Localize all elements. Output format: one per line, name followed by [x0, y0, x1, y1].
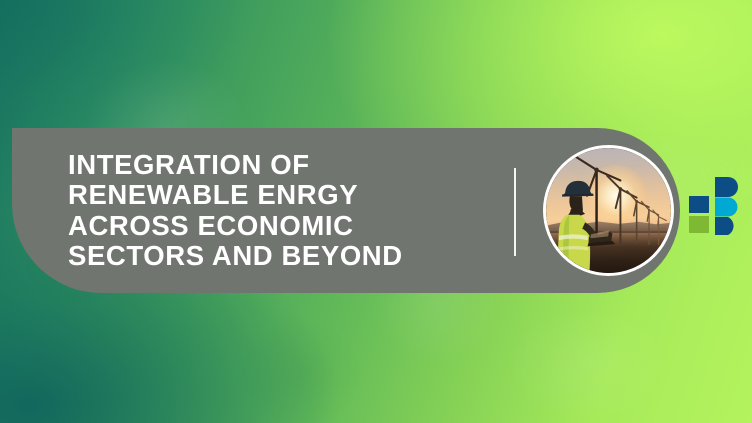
logo-block-lime — [689, 216, 709, 233]
banner-canvas: INTEGRATION OF RENEWABLE ENRGY ACROSS EC… — [0, 0, 752, 423]
brand-logo[interactable] — [689, 177, 741, 235]
title-line-1: INTEGRATION OF — [68, 150, 403, 181]
feature-photo — [543, 145, 674, 276]
logo-lobe-bottom — [715, 217, 734, 235]
title-line-3: ACROSS ECONOMIC — [68, 211, 403, 242]
headline-banner: INTEGRATION OF RENEWABLE ENRGY ACROSS EC… — [12, 128, 680, 293]
title-divider — [514, 168, 516, 256]
page-title: INTEGRATION OF RENEWABLE ENRGY ACROSS EC… — [12, 150, 403, 272]
title-line-2: RENEWABLE ENRGY — [68, 180, 403, 211]
feature-photo-artwork — [546, 148, 671, 273]
logo-block-blue — [689, 196, 709, 213]
logo-lobe-mid — [715, 198, 737, 217]
logo-lobe-top — [715, 177, 738, 197]
title-line-4: SECTORS AND BEYOND — [68, 241, 403, 272]
engineer-silhouette — [546, 148, 671, 273]
